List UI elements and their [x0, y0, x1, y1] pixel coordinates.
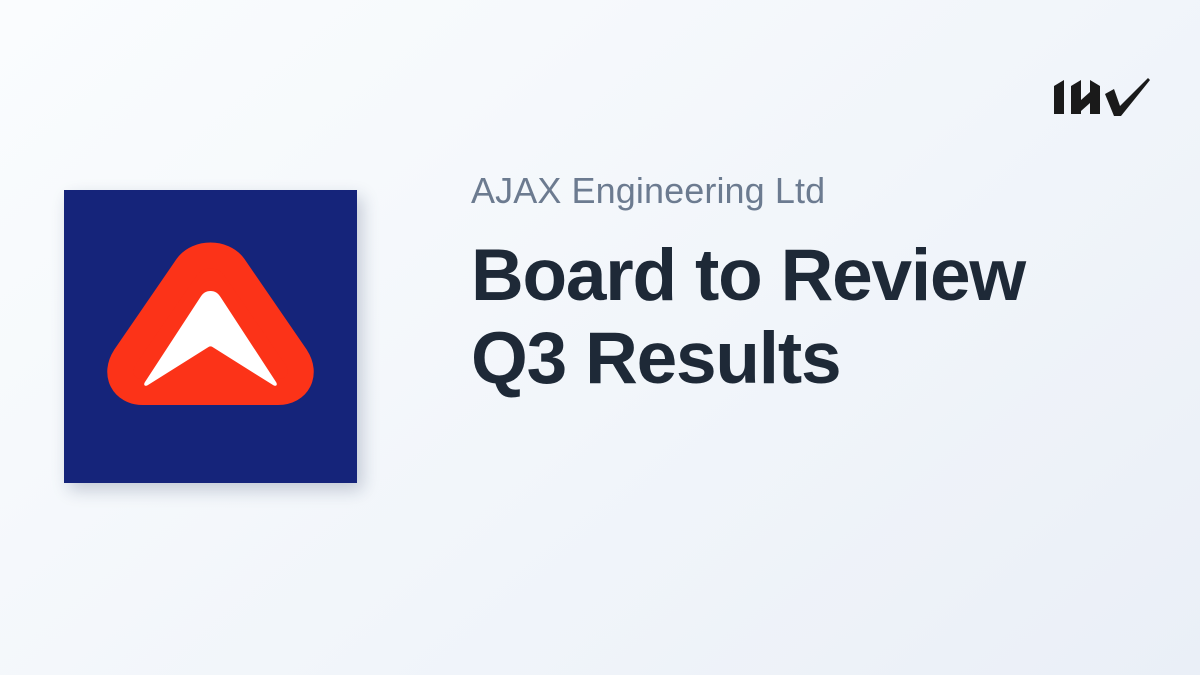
- inv-brand-logo: [1052, 70, 1152, 122]
- inv-wordmark-icon: [1052, 70, 1152, 122]
- company-logo-tile: [64, 190, 357, 483]
- slide-canvas: AJAX Engineering Ltd Board to Review Q3 …: [0, 0, 1200, 675]
- slide-text-block: AJAX Engineering Ltd Board to Review Q3 …: [471, 168, 1131, 401]
- page-title: Board to Review Q3 Results: [471, 234, 1131, 400]
- headline-line-1: Board to Review: [471, 234, 1131, 317]
- headline-line-2: Q3 Results: [471, 317, 1131, 400]
- ajax-triangle-chevron-icon: [64, 190, 357, 483]
- company-name: AJAX Engineering Ltd: [471, 168, 1131, 214]
